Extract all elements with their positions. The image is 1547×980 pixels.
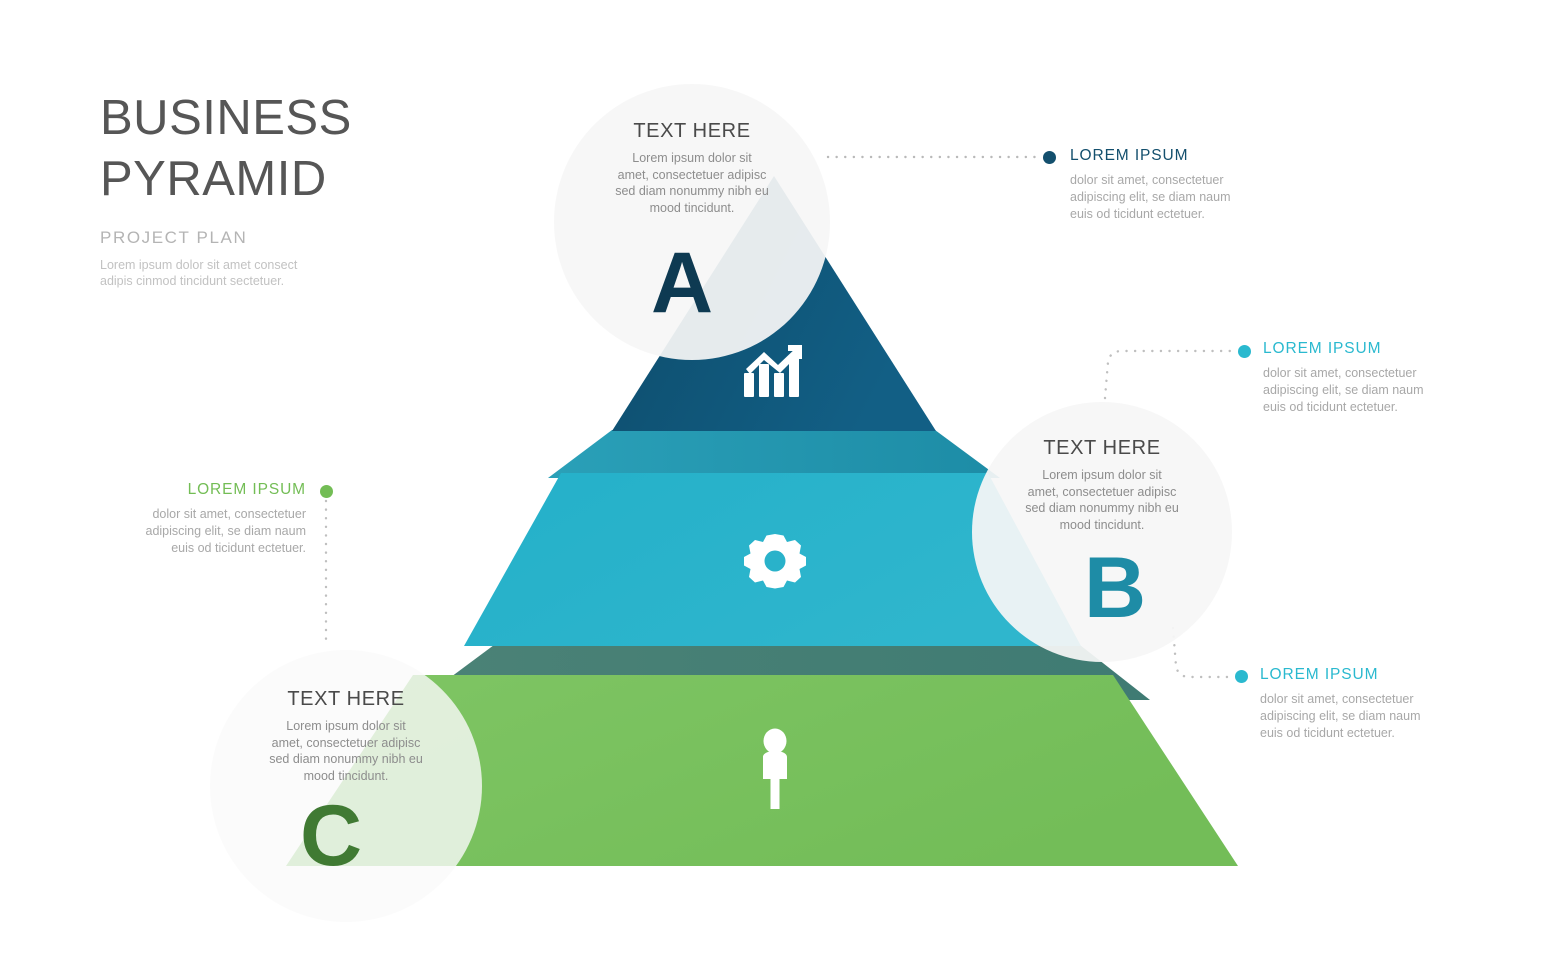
- callout-dot-mid-left: [320, 485, 333, 498]
- callout-dot-mid-right: [1238, 345, 1251, 358]
- callout-low-right: LOREM IPSUM dolor sit amet, consectetuer…: [1260, 666, 1490, 742]
- connector-low-right: [1173, 628, 1231, 677]
- callout-low-right-description: dolor sit amet, consectetuer adipiscing …: [1260, 691, 1490, 742]
- callout-top-right: LOREM IPSUM dolor sit amet, consectetuer…: [1070, 147, 1300, 223]
- circle-c-title: TEXT HERE: [232, 688, 460, 711]
- callout-dot-low-right: [1235, 670, 1248, 683]
- callout-mid-right-description: dolor sit amet, consectetuer adipiscing …: [1263, 365, 1493, 416]
- gear-icon: [744, 534, 806, 589]
- callout-mid-left: LOREM IPSUM dolor sit amet, consectetuer…: [76, 481, 306, 557]
- callout-top-right-description: dolor sit amet, consectetuer adipiscing …: [1070, 172, 1300, 223]
- circle-c-letter: C: [300, 793, 362, 879]
- circle-c-description: Lorem ipsum dolor sit amet, consectetuer…: [232, 718, 460, 784]
- callout-dot-top-right: [1043, 151, 1056, 164]
- callout-mid-right: LOREM IPSUM dolor sit amet, consectetuer…: [1263, 340, 1493, 416]
- callout-top-right-heading: LOREM IPSUM: [1070, 147, 1300, 165]
- callout-low-right-heading: LOREM IPSUM: [1260, 666, 1490, 684]
- circle-b-description: Lorem ipsum dolor sit amet, consectetuer…: [994, 467, 1210, 533]
- circle-b-title: TEXT HERE: [994, 437, 1210, 460]
- tier-a-shadow: [548, 430, 1000, 478]
- callout-mid-left-description: dolor sit amet, consectetuer adipiscing …: [76, 506, 306, 557]
- infographic-canvas: BUSINESS PYRAMID PROJECT PLAN Lorem ipsu…: [0, 0, 1547, 980]
- callout-mid-right-heading: LOREM IPSUM: [1263, 340, 1493, 358]
- circle-a-description: Lorem ipsum dolor sit amet, consectetuer…: [578, 150, 806, 216]
- circle-b-letter: B: [1084, 545, 1146, 631]
- circle-a-title: TEXT HERE: [578, 120, 806, 143]
- circle-a-letter: A: [651, 240, 713, 326]
- connector-mid-right: [1105, 351, 1234, 398]
- callout-mid-left-heading: LOREM IPSUM: [76, 481, 306, 499]
